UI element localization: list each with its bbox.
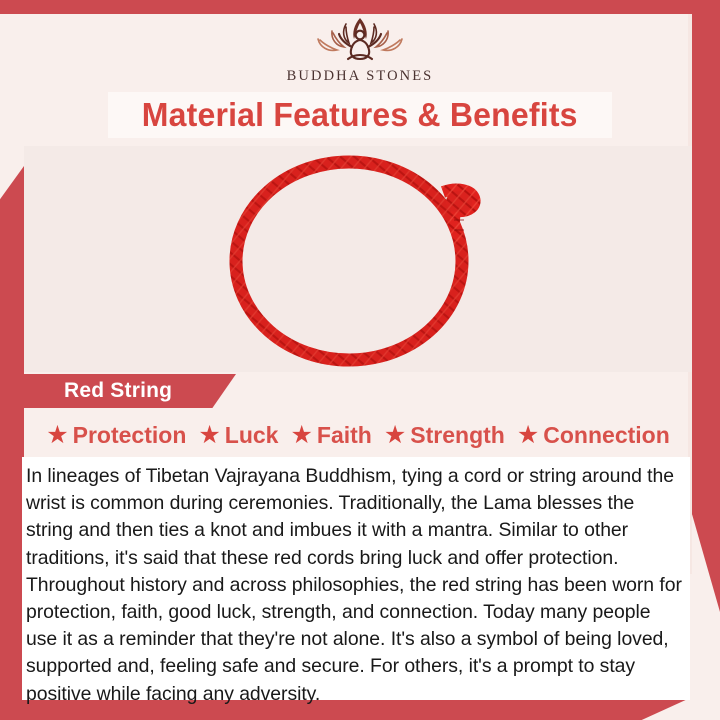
benefit-item: ★ Luck	[198, 422, 278, 449]
benefit-item: ★ Connection	[517, 422, 670, 449]
star-icon: ★	[198, 423, 220, 448]
description-block: In lineages of Tibetan Vajrayana Buddhis…	[22, 457, 690, 700]
benefits-row: ★ Protection ★ Luck ★ Faith ★ Strength ★…	[24, 414, 692, 456]
product-name-tag: Red String	[0, 374, 236, 408]
benefit-label: Connection	[543, 422, 670, 449]
description-text: In lineages of Tibetan Vajrayana Buddhis…	[26, 463, 682, 708]
page-title: Material Features & Benefits	[142, 96, 578, 134]
benefit-item: ★ Strength	[384, 422, 505, 449]
frame-left-border	[0, 166, 24, 720]
star-icon: ★	[46, 423, 68, 448]
star-icon: ★	[517, 423, 539, 448]
star-icon: ★	[290, 423, 312, 448]
infographic-page: BUDDHA STONES Material Features & Benefi…	[0, 0, 720, 720]
lotus-meditation-icon	[308, 14, 412, 66]
product-name-label: Red String	[64, 379, 172, 403]
red-braided-cord-bracelet	[218, 154, 498, 369]
title-banner: Material Features & Benefits	[108, 92, 612, 138]
benefit-label: Protection	[73, 422, 187, 449]
product-image-area	[24, 146, 692, 372]
benefit-label: Strength	[410, 422, 505, 449]
benefit-label: Faith	[317, 422, 372, 449]
brand-logo: BUDDHA STONES	[0, 14, 720, 92]
benefit-item: ★ Protection	[46, 422, 186, 449]
benefit-item: ★ Faith	[290, 422, 371, 449]
brand-name: BUDDHA STONES	[287, 68, 434, 85]
frame-top-border	[0, 0, 720, 14]
benefit-label: Luck	[225, 422, 279, 449]
star-icon: ★	[384, 423, 406, 448]
